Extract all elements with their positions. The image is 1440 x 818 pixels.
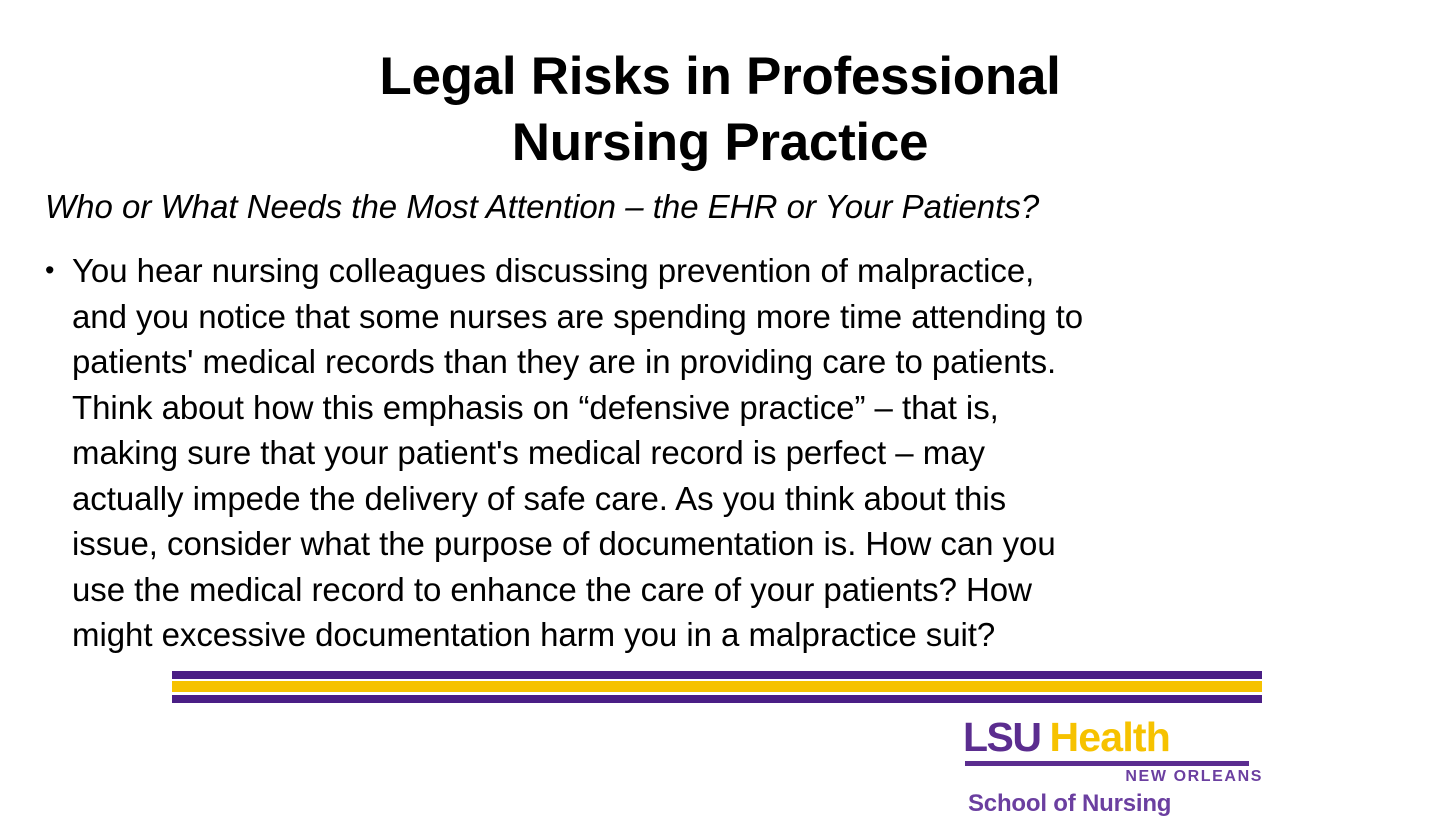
accent-bar-purple-bottom	[172, 695, 1262, 703]
bullet-list-item: • You hear nursing colleagues discussing…	[45, 248, 1400, 658]
accent-bar-gold-middle	[172, 681, 1262, 692]
logo-city-text: NEW ORLEANS	[1125, 768, 1263, 786]
slide-title: Legal Risks in Professional Nursing Prac…	[0, 44, 1440, 177]
logo-health-text: Health	[1050, 714, 1171, 761]
lsu-health-logo: LSU Health NEW ORLEANS School of Nursing	[963, 714, 1263, 810]
logo-wordmark: LSU Health	[963, 714, 1170, 761]
slide-subtitle: Who or What Needs the Most Attention – t…	[45, 186, 1405, 227]
logo-school-text: School of Nursing	[968, 790, 1171, 818]
bullet-point-icon: •	[45, 248, 72, 294]
presentation-slide: Legal Risks in Professional Nursing Prac…	[0, 0, 1440, 812]
accent-bar-purple-top	[172, 671, 1262, 679]
lsu-accent-bars	[172, 671, 1262, 707]
logo-underline-rule	[965, 761, 1249, 766]
logo-lsu-text: LSU	[963, 714, 1041, 761]
slide-body: • You hear nursing colleagues discussing…	[45, 248, 1400, 658]
bullet-body-text: You hear nursing colleagues discussing p…	[72, 248, 1400, 658]
